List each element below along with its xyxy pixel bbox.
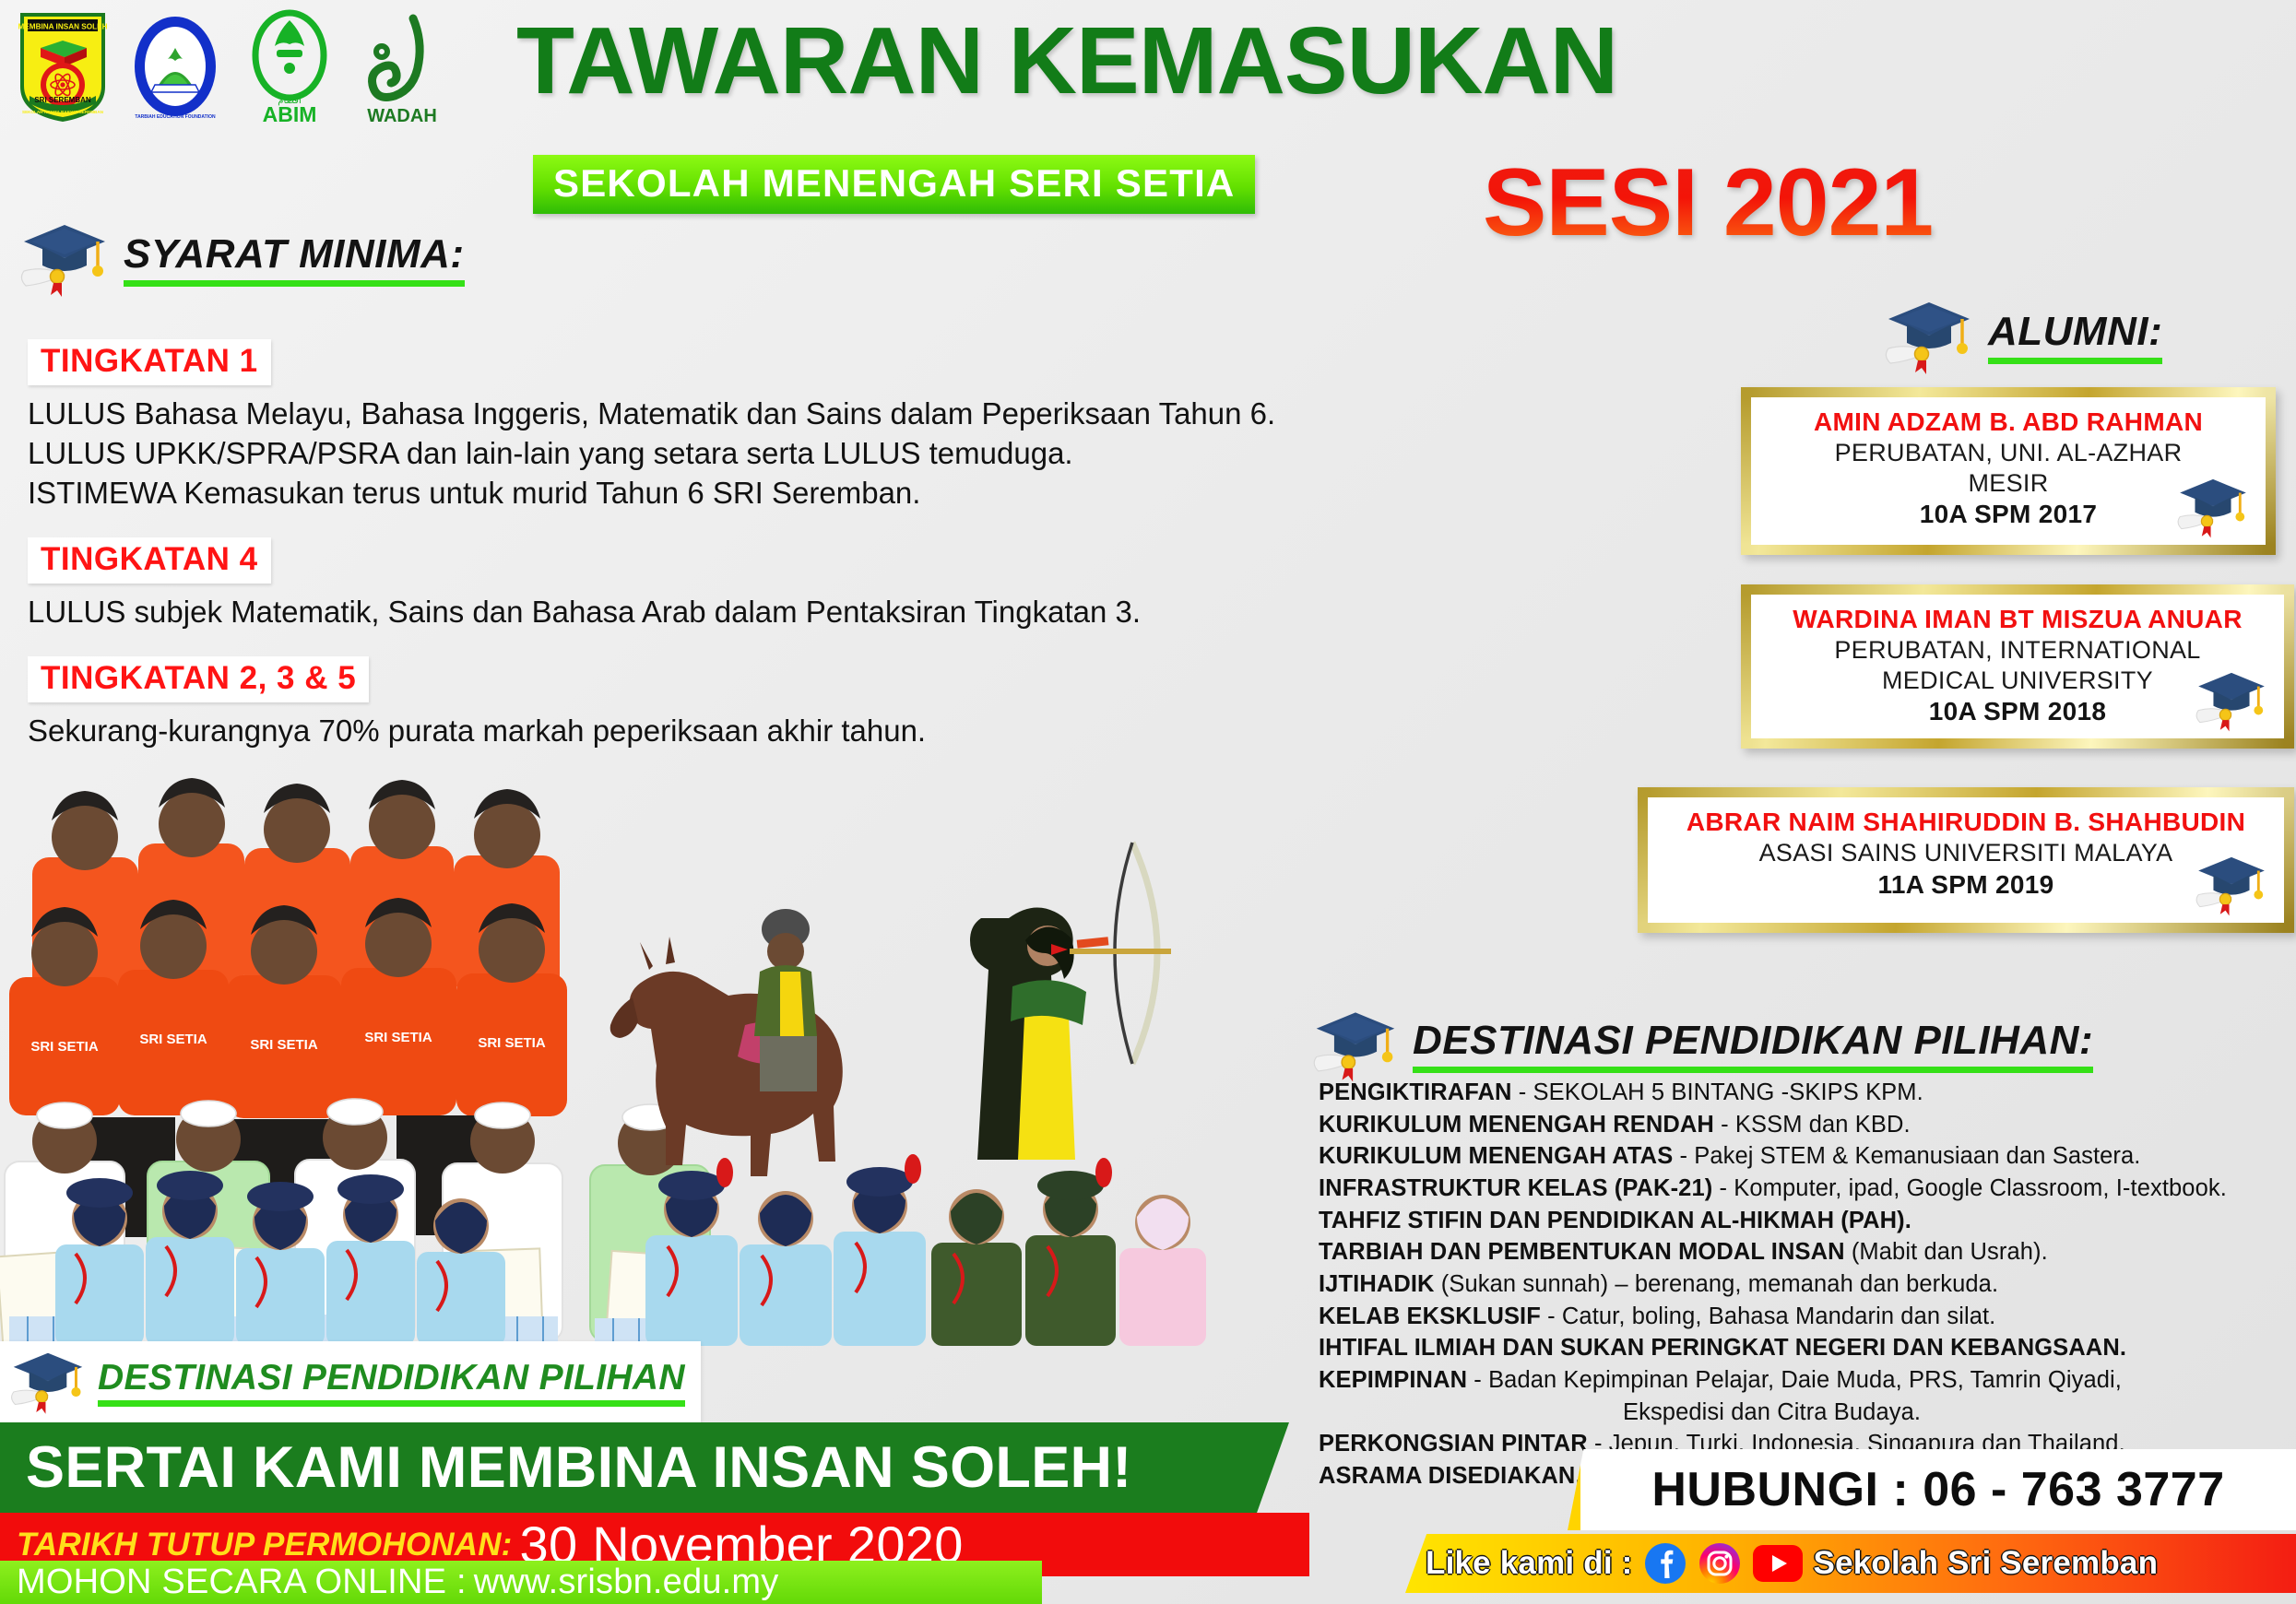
facebook-icon[interactable] (1643, 1541, 1687, 1586)
requirement-line: ISTIMEWA Kemasukan terus untuk murid Tah… (28, 474, 1245, 513)
item-label: TARBIAH DAN PEMBENTUKAN MODAL INSAN (1319, 1239, 1845, 1265)
item-rest: - Catur, boling, Bahasa Mandarin dan sil… (1541, 1303, 1995, 1329)
item-rest: (Sukan sunnah) – berenang, memanah dan b… (1435, 1271, 1999, 1297)
graduation-cap-icon (17, 219, 112, 299)
graduation-cap-icon (7, 1348, 89, 1416)
collage-illustration: SRI SETIA SRI SETIA SRI SETIA SRI SETIA … (0, 756, 1309, 1346)
item-label: PERKONGSIAN PINTAR (1319, 1431, 1588, 1457)
tingkatan-1-tag: TINGKATAN 1 (28, 339, 271, 385)
student-photo-collage: SRI SETIA SRI SETIA SRI SETIA SRI SETIA … (0, 756, 1309, 1346)
poster-subtitle: SEKOLAH MENENGAH SERI SETIA (533, 155, 1255, 214)
deadline-label: TARIKH TUTUP PERMOHONAN: (0, 1527, 513, 1563)
alumni-card: WARDINA IMAN BT MISZUA ANUAR PERUBATAN, … (1741, 584, 2294, 749)
syarat-body: TINGKATAN 1 LULUS Bahasa Melayu, Bahasa … (28, 339, 1245, 750)
sertai-banner: SERTAI KAMI MEMBINA INSAN SOLEH! (0, 1422, 1289, 1513)
poster-session: SESI 2021 (1483, 155, 1933, 251)
tingkatan-4-tag: TINGKATAN 4 (28, 537, 271, 584)
svg-text:SRI SETIA: SRI SETIA (250, 1037, 318, 1053)
item-label: KEPIMPINAN (1319, 1367, 1467, 1393)
instagram-icon[interactable] (1698, 1541, 1742, 1586)
syarat-heading: SYARAT MINIMA: (124, 231, 465, 287)
graduation-cap-icon (1309, 1007, 1402, 1084)
graduation-cap-icon (2173, 475, 2253, 539)
list-item: KELAB EKSKLUSIF - Catur, boling, Bahasa … (1319, 1301, 2291, 1333)
alumni-heading: ALUMNI: (1988, 309, 2162, 364)
sertai-text: SERTAI KAMI MEMBINA INSAN SOLEH! (0, 1434, 1132, 1501)
poster-root: MEMBINA INSAN SOLEH SRI SEREMBAN SEKOLAH… (0, 0, 2296, 1604)
destinasi-label-text: DESTINASI PENDIDIKAN PILIHAN (98, 1358, 685, 1407)
list-item: KEPIMPINAN - Badan Kepimpinan Pelajar, D… (1319, 1364, 2291, 1397)
youtube-icon[interactable] (1752, 1542, 1804, 1585)
svg-text:SEKOLAH AGAMA RAKYAT SEREMBAN: SEKOLAH AGAMA RAKYAT SEREMBAN (22, 110, 104, 114)
contact-phone-text: HUBUNGI : 06 - 763 3777 (1651, 1462, 2224, 1517)
svg-text:SRI SETIA: SRI SETIA (478, 1035, 546, 1051)
tingkatan-235-tag: TINGKATAN 2, 3 & 5 (28, 656, 369, 702)
logo-row: MEMBINA INSAN SOLEH SRI SEREMBAN SEKOLAH… (13, 7, 450, 130)
list-item: TARBIAH DAN PEMBENTUKAN MODAL INSAN (Mab… (1319, 1236, 2291, 1268)
item-label: IHTIFAL ILMIAH DAN SUKAN PERINGKAT NEGER… (1319, 1335, 2126, 1361)
svg-text:ABIM: ABIM (263, 102, 317, 125)
requirement-line: LULUS UPKK/SPRA/PSRA dan lain-lain yang … (28, 434, 1245, 474)
poster-title: TAWARAN KEMASUKAN (516, 13, 1617, 108)
svg-text:MEMBINA INSAN SOLEH: MEMBINA INSAN SOLEH (18, 23, 107, 31)
item-label: PENGIKTIRAFAN (1319, 1079, 1512, 1105)
item-rest: Ekspedisi dan Citra Budaya. (1623, 1399, 1921, 1425)
item-label: ASRAMA DISEDIAKAN. (1319, 1463, 1582, 1489)
item-label: IJTIHADIK (1319, 1271, 1435, 1297)
archery-photo (970, 843, 1171, 1160)
item-label: TAHFIZ STIFIN DAN PENDIDIKAN AL-HIKMAH (… (1319, 1208, 1911, 1233)
graduation-cap-icon (2192, 853, 2271, 917)
item-label: KELAB EKSKLUSIF (1319, 1303, 1541, 1329)
alumni-heading-block: ALUMNI: (1881, 297, 2162, 376)
sri-seremban-crest-icon: MEMBINA INSAN SOLEH SRI SEREMBAN SEKOLAH… (13, 7, 112, 125)
list-item: INFRASTRUKTUR KELAS (PAK-21) - Komputer,… (1319, 1173, 2291, 1205)
contact-phone-banner: HUBUNGI : 06 - 763 3777 (1568, 1449, 2296, 1530)
svg-text:SRI SETIA: SRI SETIA (30, 1039, 99, 1055)
item-rest: - KSSM dan KBD. (1714, 1112, 1911, 1138)
apply-online-banner: MOHON SECARA ONLINE : www.srisbn.edu.my (0, 1561, 1042, 1604)
sri-seremban-school-crest: MEMBINA INSAN SOLEH SRI SEREMBAN SEKOLAH… (13, 7, 112, 130)
wadah-logo: WADAH (354, 7, 450, 130)
svg-text:SRI SEREMBAN: SRI SEREMBAN (34, 96, 91, 104)
syarat-heading-block: SYARAT MINIMA: (17, 219, 465, 299)
list-item: KURIKULUM MENENGAH RENDAH - KSSM dan KBD… (1319, 1109, 2291, 1141)
alumni-card: ABRAR NAIM SHAHIRUDDIN B. SHAHBUDIN ASAS… (1638, 787, 2294, 933)
item-rest: - Komputer, ipad, Google Classroom, I-te… (1712, 1175, 2227, 1201)
destinasi-heading: DESTINASI PENDIDIKAN PILIHAN: (1413, 1018, 2093, 1073)
list-item: PENGIKTIRAFAN - SEKOLAH 5 BINTANG -SKIPS… (1319, 1077, 2291, 1109)
item-rest: (Mabit dan Usrah). (1845, 1239, 2048, 1265)
graduation-cap-icon (1881, 297, 1977, 376)
tarbiah-education-foundation-logo: TARBIAH EDUCATION FOUNDATION (125, 7, 225, 130)
alumni-score: 11A SPM 2019 (1655, 868, 2277, 901)
social-banner: Like kami di : Sekolah Sri Ser (1405, 1534, 2296, 1593)
svg-text:SRI SETIA: SRI SETIA (364, 1030, 432, 1045)
alumni-detail: PERUBATAN, INTERNATIONAL (1758, 635, 2277, 666)
item-label: INFRASTRUKTUR KELAS (PAK-21) (1319, 1175, 1712, 1201)
item-label: KURIKULUM MENENGAH ATAS (1319, 1143, 1673, 1169)
cadet-group-right (645, 1154, 1206, 1346)
abim-logo: أقصام ABIM (238, 7, 341, 130)
wadah-icon: WADAH (354, 7, 450, 125)
destinasi-label-bottom-left: DESTINASI PENDIDIKAN PILIHAN (0, 1341, 701, 1422)
item-rest: - Badan Kepimpinan Pelajar, Daie Muda, P… (1467, 1367, 2122, 1393)
item-rest: - Pakej STEM & Kemanusiaan dan Sastera. (1673, 1143, 2140, 1169)
alumni-name: ABRAR NAIM SHAHIRUDDIN B. SHAHBUDIN (1655, 807, 2277, 838)
social-page-name: Sekolah Sri Seremban (1814, 1545, 2159, 1582)
alumni-name: AMIN ADZAM B. ABD RAHMAN (1758, 407, 2258, 438)
alumni-name: WARDINA IMAN BT MISZUA ANUAR (1758, 604, 2277, 635)
alumni-card: AMIN ADZAM B. ABD RAHMAN PERUBATAN, UNI.… (1741, 387, 2276, 555)
list-item: Ekspedisi dan Citra Budaya. (1319, 1397, 2291, 1429)
alumni-detail: ASASI SAINS UNIVERSITI MALAYA (1655, 838, 2277, 868)
list-item: IHTIFAL ILMIAH DAN SUKAN PERINGKAT NEGER… (1319, 1332, 2291, 1364)
destinasi-list: PENGIKTIRAFAN - SEKOLAH 5 BINTANG -SKIPS… (1319, 1077, 2291, 1492)
list-item: IJTIHADIK (Sukan sunnah) – berenang, mem… (1319, 1268, 2291, 1301)
requirement-line: Sekurang-kurangnya 70% purata markah pep… (28, 712, 1245, 751)
svg-text:WADAH: WADAH (367, 106, 437, 125)
svg-text:SRI SETIA: SRI SETIA (139, 1032, 207, 1047)
list-item: KURIKULUM MENENGAH ATAS - Pakej STEM & K… (1319, 1140, 2291, 1173)
destinasi-heading-block: DESTINASI PENDIDIKAN PILIHAN: (1309, 1007, 2093, 1084)
graduation-cap-icon (2192, 668, 2271, 733)
requirement-line: LULUS Bahasa Melayu, Bahasa Inggeris, Ma… (28, 395, 1245, 434)
requirement-line: LULUS subjek Matematik, Sains dan Bahasa… (28, 593, 1245, 632)
social-label: Like kami di : (1426, 1545, 1633, 1582)
item-rest: - SEKOLAH 5 BINTANG -SKIPS KPM. (1512, 1079, 1923, 1105)
svg-text:TARBIAH EDUCATION FOUNDATION: TARBIAH EDUCATION FOUNDATION (135, 114, 216, 120)
alumni-detail: PERUBATAN, UNI. AL-AZHAR (1758, 438, 2258, 468)
list-item: TAHFIZ STIFIN DAN PENDIDIKAN AL-HIKMAH (… (1319, 1205, 2291, 1237)
apply-online-label: MOHON SECARA ONLINE : (0, 1563, 467, 1602)
abim-icon: أقصام ABIM (238, 7, 341, 125)
apply-online-url[interactable]: www.srisbn.edu.my (474, 1563, 779, 1602)
item-label: KURIKULUM MENENGAH RENDAH (1319, 1112, 1714, 1138)
tarbiah-foundation-icon: TARBIAH EDUCATION FOUNDATION (125, 7, 225, 125)
